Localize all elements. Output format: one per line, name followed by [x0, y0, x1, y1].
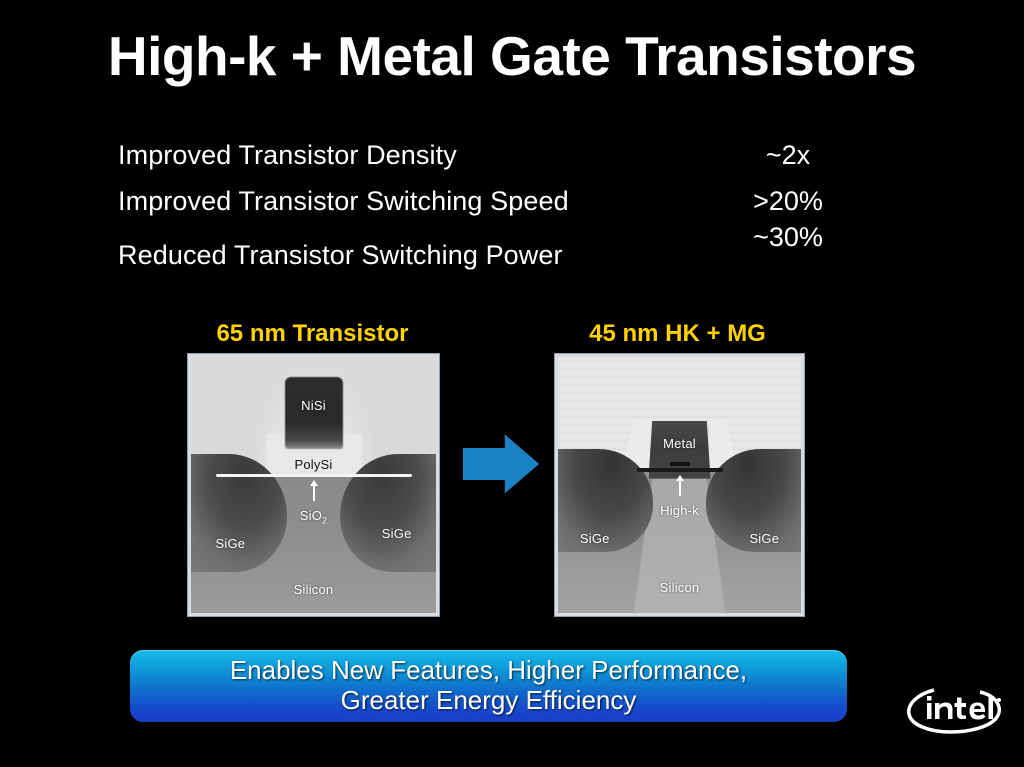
arrow-body [463, 432, 539, 496]
summary-line-2: Greater Energy Efficiency [341, 686, 637, 716]
list-item: Improved Transistor Density ~2x [118, 140, 908, 186]
tem-image-45nm: Metal High-k SiGe SiGe Silicon [555, 354, 804, 616]
right-arrow-icon [463, 432, 539, 496]
list-item: Reduced Transistor Switching Power ~30% [118, 240, 908, 286]
summary-banner-text: Enables New Features, Higher Performance… [130, 650, 847, 722]
tem-canvas-right: Metal High-k SiGe SiGe Silicon [558, 357, 801, 613]
label-silicon: Silicon [294, 582, 334, 597]
label-sige-right: SiGe [382, 526, 412, 541]
page-title: High-k + Metal Gate Transistors [0, 28, 1024, 86]
summary-banner: Enables New Features, Higher Performance… [130, 650, 847, 722]
gate-oxide-layer [216, 474, 412, 477]
benefit-label: Improved Transistor Switching Speed [118, 186, 569, 217]
label-sio2: SiO2 [300, 508, 328, 526]
label-sige-right: SiGe [749, 531, 779, 546]
label-metal: Metal [663, 436, 696, 451]
figure-caption-left: 65 nm Transistor [160, 320, 465, 348]
high-k-dielectric-layer [637, 468, 723, 472]
tem-image-65nm: NiSi PolySi SiO2 SiGe SiGe Silicon [188, 354, 439, 616]
sio2-pointer-arrow-icon [313, 485, 315, 501]
benefit-value: >20% [708, 186, 868, 217]
benefit-label: Improved Transistor Density [118, 140, 457, 171]
summary-line-1: Enables New Features, Higher Performance… [230, 656, 747, 686]
benefit-value: ~30% [708, 222, 868, 253]
nisi-silicide-region [285, 377, 343, 449]
label-nisi: NiSi [301, 398, 326, 413]
tem-canvas-left: NiSi PolySi SiO2 SiGe SiGe Silicon [191, 357, 436, 613]
high-k-pointer-arrow-icon [679, 480, 681, 496]
slide-canvas: High-k + Metal Gate Transistors Improved… [0, 0, 1024, 767]
metal-gate-void-mark [670, 462, 690, 466]
figure-caption-right: 45 nm HK + MG [525, 320, 830, 348]
benefit-label: Reduced Transistor Switching Power [118, 240, 563, 271]
label-silicon: Silicon [660, 580, 700, 595]
benefits-list: Improved Transistor Density ~2x Improved… [118, 140, 908, 286]
label-sige-left: SiGe [216, 536, 246, 551]
label-polysi: PolySi [294, 457, 332, 472]
label-high-k: High-k [660, 503, 699, 518]
label-sige-left: SiGe [580, 531, 610, 546]
intel-logo [905, 683, 1005, 735]
benefit-value: ~2x [708, 140, 868, 171]
